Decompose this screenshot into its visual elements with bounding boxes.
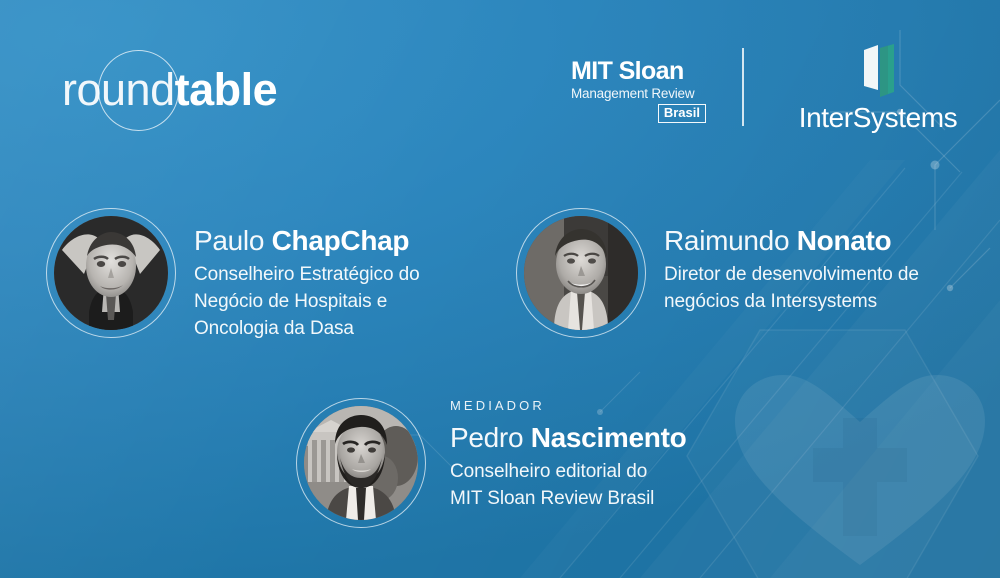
avatar: [296, 398, 426, 528]
mit-sloan-badge-row: Brasil: [571, 104, 706, 123]
speaker-role-line: Conselheiro editorial do: [450, 458, 686, 485]
speaker-first-name: Raimundo: [664, 225, 789, 256]
speaker-card-raimundo-nonato: Raimundo Nonato Diretor de desenvolvimen…: [516, 208, 919, 338]
roundtable-logo-bold: table: [175, 64, 278, 115]
speaker-role: Diretor de desenvolvimento de negócios d…: [664, 261, 919, 315]
speaker-role-line: Diretor de desenvolvimento de: [664, 261, 919, 288]
logo-divider: [742, 48, 744, 126]
roundtable-wordmark: roundtable: [62, 62, 277, 118]
avatar-photo-paulo-chapchap: [54, 216, 168, 330]
speaker-card-pedro-nascimento: MEDIADOR Pedro Nascimento Conselheiro ed…: [296, 398, 686, 528]
speaker-role: Conselheiro Estratégico do Negócio de Ho…: [194, 261, 420, 342]
mit-sloan-brasil-badge: Brasil: [658, 104, 706, 123]
intersystems-wordmark: InterSystems: [778, 102, 978, 134]
speaker-info: MEDIADOR Pedro Nascimento Conselheiro ed…: [450, 398, 686, 512]
speaker-last-name: Nascimento: [531, 422, 687, 453]
speaker-role-line: MIT Sloan Review Brasil: [450, 485, 686, 512]
speaker-role-line: Negócio de Hospitais e: [194, 288, 420, 315]
speaker-card-paulo-chapchap: Paulo ChapChap Conselheiro Estratégico d…: [46, 208, 420, 342]
avatar: [516, 208, 646, 338]
speaker-role-line: negócios da Intersystems: [664, 288, 919, 315]
mit-sloan-title: MIT Sloan: [571, 58, 706, 85]
speaker-role-line: Conselheiro Estratégico do: [194, 261, 420, 288]
mit-sloan-logo[interactable]: MIT Sloan Management Review Brasil: [571, 58, 706, 123]
speaker-info: Raimundo Nonato Diretor de desenvolvimen…: [664, 208, 919, 315]
speaker-name: Paulo ChapChap: [194, 224, 420, 258]
intersystems-logo[interactable]: InterSystems: [778, 44, 978, 134]
open-door-mark-icon: [856, 44, 900, 98]
avatar-photo-pedro-nascimento: [304, 406, 418, 520]
speaker-role: Conselheiro editorial do MIT Sloan Revie…: [450, 458, 686, 512]
speaker-name: Raimundo Nonato: [664, 224, 919, 258]
speaker-role-line: Oncologia da Dasa: [194, 315, 420, 342]
roundtable-logo[interactable]: roundtable: [62, 48, 392, 132]
mediator-label: MEDIADOR: [450, 398, 686, 414]
speaker-last-name: Nonato: [797, 225, 892, 256]
speaker-name: Pedro Nascimento: [450, 421, 686, 455]
speaker-last-name: ChapChap: [272, 225, 410, 256]
roundtable-logo-light: round: [62, 64, 175, 115]
avatar: [46, 208, 176, 338]
speaker-first-name: Pedro: [450, 422, 523, 453]
avatar-photo-raimundo-nonato: [524, 216, 638, 330]
speaker-info: Paulo ChapChap Conselheiro Estratégico d…: [194, 208, 420, 342]
header: roundtable MIT Sloan Management Review B…: [0, 0, 1000, 160]
mit-sloan-subtitle: Management Review: [571, 86, 706, 102]
speaker-first-name: Paulo: [194, 225, 264, 256]
roundtable-event-banner: roundtable MIT Sloan Management Review B…: [0, 0, 1000, 578]
